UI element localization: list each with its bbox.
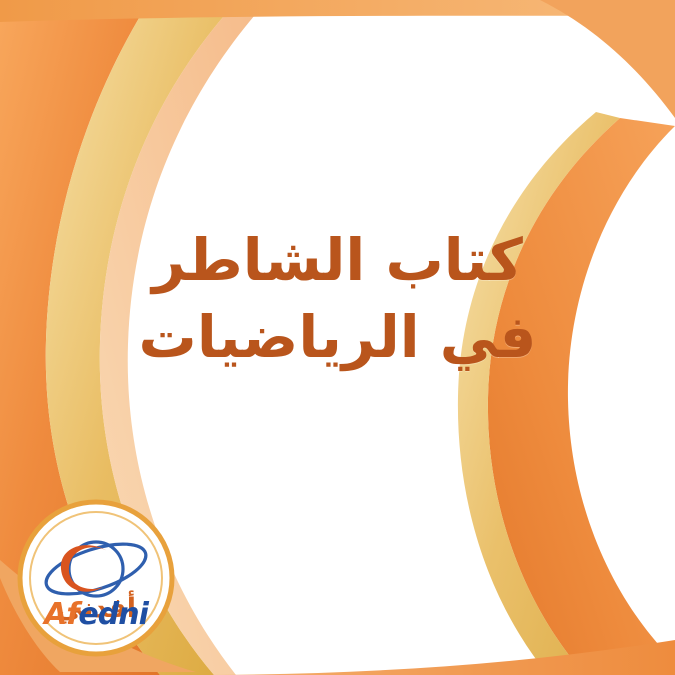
logo-inner-ring	[30, 512, 162, 644]
title-line-2: في الرياضيات	[0, 305, 675, 370]
book-cover: كتاب الشاطر في الرياضيات أفدني Afedni	[0, 0, 675, 675]
title-line-1: كتاب الشاطر	[0, 228, 675, 293]
cover-title: كتاب الشاطر في الرياضيات	[0, 228, 675, 370]
top-right-corner-wedge	[540, 0, 675, 118]
publisher-logo: أفدني Afedni	[15, 497, 177, 659]
logo-graphic	[15, 497, 177, 659]
